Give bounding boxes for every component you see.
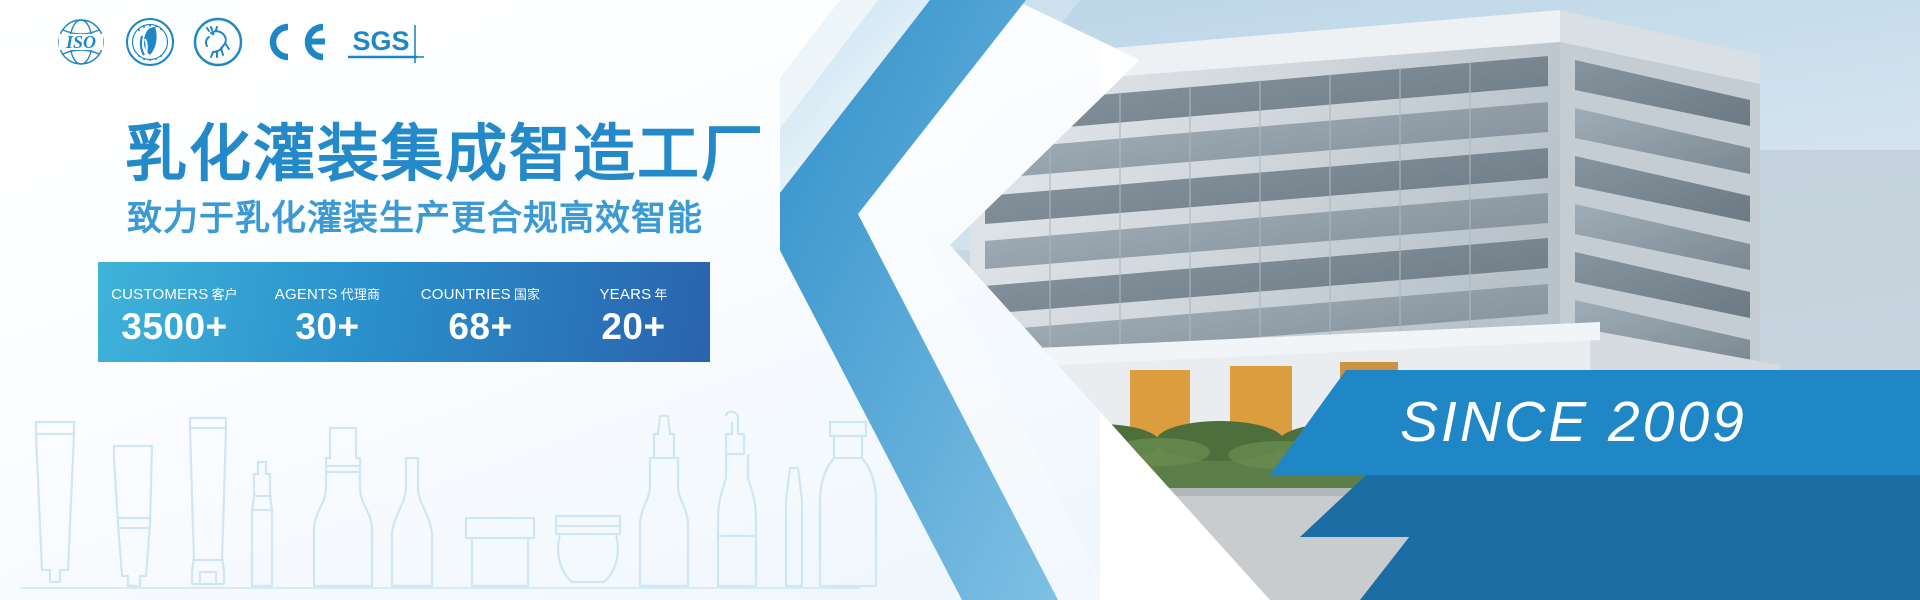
packaging-silhouette-row — [0, 400, 880, 600]
stat-agents-label: AGENTS代理商 — [275, 284, 381, 303]
iso-certification-logo: ISO — [55, 16, 107, 68]
since-badge: SINCE 2009 — [1270, 370, 1920, 475]
stat-agents: AGENTS代理商 30+ — [251, 262, 404, 362]
cnas-certification-logo — [125, 17, 175, 67]
stat-customers: CUSTOMERS客户 3500+ — [98, 262, 251, 362]
stat-countries: COUNTRIES国家 68+ — [404, 262, 557, 362]
cqc-certification-logo — [193, 17, 243, 67]
statistics-bar: CUSTOMERS客户 3500+ AGENTS代理商 30+ COUNTRIE… — [98, 262, 710, 362]
ce-certification-logo — [261, 19, 327, 65]
certification-logo-strip: ISO — [55, 16, 425, 68]
stat-customers-value: 3500+ — [121, 308, 227, 345]
svg-text:SGS: SGS — [352, 26, 409, 56]
banner-subheadline: 致力于乳化灌装生产更合规高效智能 — [127, 200, 703, 239]
stat-countries-label: COUNTRIES国家 — [421, 284, 541, 303]
svg-text:ISO: ISO — [65, 32, 96, 52]
stat-customers-label: CUSTOMERS客户 — [111, 284, 238, 303]
sgs-certification-logo: SGS — [345, 17, 425, 67]
hero-banner: ISO — [0, 0, 1920, 600]
since-badge-label: SINCE 2009 — [1400, 394, 1747, 451]
banner-headline: 乳化灌装集成智造工厂 — [125, 122, 765, 189]
stat-agents-value: 30+ — [295, 308, 359, 345]
stat-countries-value: 68+ — [448, 308, 512, 345]
stat-years-value: 20+ — [601, 308, 665, 345]
stat-years: YEARS年 20+ — [557, 262, 710, 362]
stat-years-label: YEARS年 — [599, 284, 667, 303]
